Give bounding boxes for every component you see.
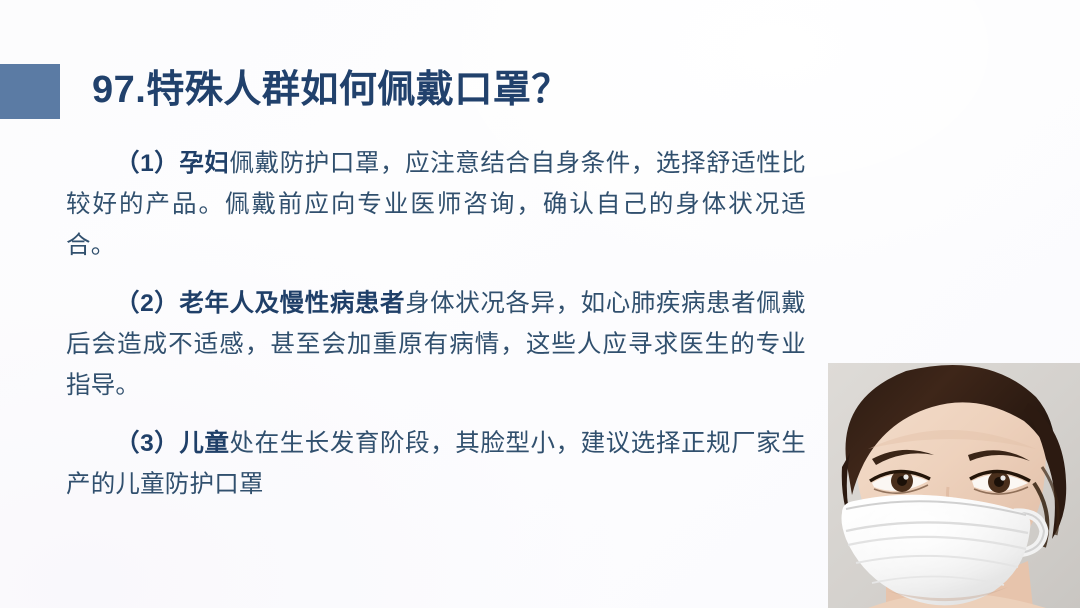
title-accent-block: [0, 64, 60, 119]
paragraph-3-lead: （3）儿童: [115, 430, 230, 457]
body-content: （1）孕妇佩戴防护口罩，应注意结合自身条件，选择舒适性比较好的产品。佩戴前应向专…: [66, 143, 806, 505]
paragraph-2: （2）老年人及慢性病患者身体状况各异，如心肺疾病患者佩戴后会造成不适感，甚至会加…: [66, 283, 806, 406]
face-mask-photo-icon: [828, 363, 1080, 608]
page-title: 97.特殊人群如何佩戴口罩？: [92, 60, 812, 122]
paragraph-1: （1）孕妇佩戴防护口罩，应注意结合自身条件，选择舒适性比较好的产品。佩戴前应向专…: [66, 143, 806, 266]
paragraph-2-lead: （2）老年人及慢性病患者: [115, 290, 405, 317]
mask-photo: [828, 363, 1080, 608]
paragraph-3: （3）儿童处在生长发育阶段，其脸型小，建议选择正规厂家生产的儿童防护口罩: [66, 423, 806, 505]
paragraph-1-lead: （1）孕妇: [115, 150, 230, 177]
slide-canvas: 97.特殊人群如何佩戴口罩？ （1）孕妇佩戴防护口罩，应注意结合自身条件，选择舒…: [0, 0, 1080, 608]
page-title-text: 97.特殊人群如何佩戴口罩？: [92, 71, 570, 111]
